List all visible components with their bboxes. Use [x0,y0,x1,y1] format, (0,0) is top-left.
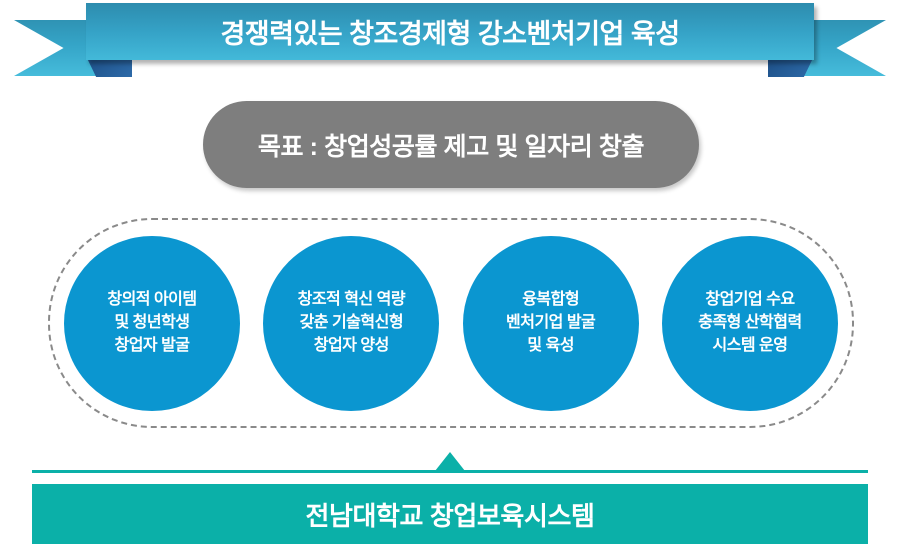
strategy-circle-3-line-3: 및 육성 [527,335,574,358]
system-bar: 전남대학교 창업보육시스템 [32,484,868,544]
strategy-circle-4[interactable]: 창업기업 수요 충족형 산학협력 시스템 운영 [662,236,838,411]
strategy-circle-3-line-1: 융복합형 [522,289,579,312]
strategy-circle-1-line-3: 창업자 발굴 [114,335,189,358]
banner-ribbon: 경쟁력있는 창조경제형 강소벤처기업 육성 [0,0,900,92]
strategy-circle-1-line-1: 창의적 아이템 [107,289,196,312]
banner-title: 경쟁력있는 창조경제형 강소벤처기업 육성 [220,12,679,51]
system-bar-label: 전남대학교 창업보육시스템 [305,496,594,533]
strategy-circle-1[interactable]: 창의적 아이템 및 청년학생 창업자 발굴 [64,236,240,411]
strategy-circle-3[interactable]: 융복합형 벤처기업 발굴 및 육성 [463,236,639,411]
banner-center-panel: 경쟁력있는 창조경제형 강소벤처기업 육성 [86,3,814,60]
goal-pill: 목표 : 창업성공률 제고 및 일자리 창출 [203,101,699,188]
strategy-circle-row: 창의적 아이템 및 청년학생 창업자 발굴 창조적 혁신 역량 갖춘 기술혁신형… [48,236,854,411]
strategy-circle-3-line-2: 벤처기업 발굴 [506,312,595,335]
strategy-circle-4-line-2: 충족형 산학협력 [698,312,802,335]
strategy-circle-2[interactable]: 창조적 혁신 역량 갖춘 기술혁신형 창업자 양성 [263,236,439,411]
up-arrow-icon [435,452,465,471]
strategy-circle-2-line-2: 갖춘 기술혁신형 [300,312,404,335]
strategy-circle-2-line-1: 창조적 혁신 역량 [298,289,405,312]
flow-divider-rule [32,470,868,473]
strategy-circle-2-line-3: 창업자 양성 [314,335,389,358]
strategy-circle-1-line-2: 및 청년학생 [114,312,189,335]
goal-label: 목표 : 창업성공률 제고 및 일자리 창출 [258,127,644,163]
diagram-canvas: 경쟁력있는 창조경제형 강소벤처기업 육성 목표 : 창업성공률 제고 및 일자… [0,0,900,552]
strategy-circle-4-line-1: 창업기업 수요 [705,289,794,312]
strategy-circle-4-line-3: 시스템 운영 [712,335,787,358]
